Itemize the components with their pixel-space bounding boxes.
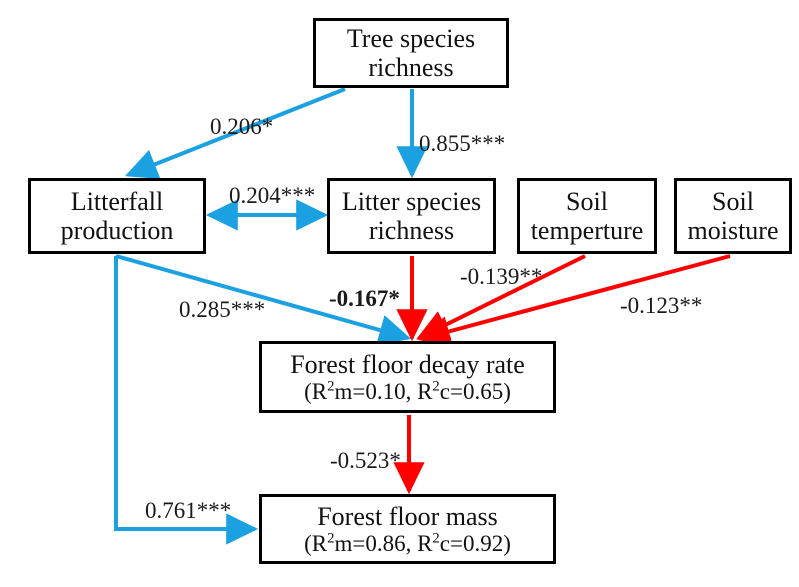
path-label-tree-to-litterfall: 0.206*	[210, 114, 273, 140]
node-litter-species-richness[interactable]: Litter species richness	[327, 178, 496, 254]
path-label-litter-species-to-decay-rate: -0.167*	[329, 286, 400, 312]
path-label-soil-temperature-to-decay-rate: -0.139**	[460, 264, 542, 290]
decay-rate-r2c: 0.65	[463, 379, 503, 404]
node-forest-floor-decay-rate-stats: (R2m=0.10, R2c=0.65)	[304, 379, 511, 405]
mass-r2c: 0.92	[463, 531, 503, 556]
path-label-decay-rate-to-mass: -0.523*	[330, 448, 401, 474]
decay-rate-r2m: 0.10	[365, 379, 405, 404]
path-label-litterfall-to-mass: 0.761***	[145, 498, 231, 524]
node-soil-temperature-line1: Soil	[566, 187, 608, 216]
path-label-litterfall-to-decay-rate: 0.285***	[179, 297, 265, 323]
node-forest-floor-mass-line1: Forest floor mass	[317, 502, 498, 531]
path-label-litterfall-litter-species-correlation: 0.204***	[229, 183, 315, 209]
node-soil-temperature[interactable]: Soil temperture	[517, 178, 657, 254]
node-forest-floor-mass[interactable]: Forest floor mass (R2m=0.86, R2c=0.92)	[259, 494, 556, 564]
node-soil-temperature-line2: temperture	[531, 216, 644, 245]
node-forest-floor-decay-rate-line1: Forest floor decay rate	[290, 350, 525, 379]
node-litterfall-production-line1: Litterfall	[71, 187, 163, 216]
node-tree-species-richness[interactable]: Tree species richness	[313, 18, 509, 88]
node-forest-floor-mass-stats: (R2m=0.86, R2c=0.92)	[304, 531, 511, 557]
node-tree-species-richness-line1: Tree species	[347, 24, 475, 53]
path-label-tree-to-litter-species: 0.855***	[419, 131, 505, 157]
path-label-soil-moisture-to-decay-rate: -0.123**	[620, 293, 702, 319]
node-litter-species-richness-line2: richness	[369, 216, 454, 245]
node-litter-species-richness-line1: Litter species	[342, 187, 481, 216]
node-soil-moisture-line2: moisture	[688, 216, 779, 245]
node-forest-floor-decay-rate[interactable]: Forest floor decay rate (R2m=0.10, R2c=0…	[259, 341, 556, 413]
node-litterfall-production-line2: production	[61, 216, 174, 245]
sem-diagram: Tree species richness Litterfall product…	[0, 0, 799, 587]
node-litterfall-production[interactable]: Litterfall production	[28, 178, 206, 254]
node-tree-species-richness-line2: richness	[368, 53, 453, 82]
node-soil-moisture[interactable]: Soil moisture	[674, 178, 792, 254]
node-soil-moisture-line1: Soil	[712, 187, 754, 216]
mass-r2m: 0.86	[365, 531, 405, 556]
